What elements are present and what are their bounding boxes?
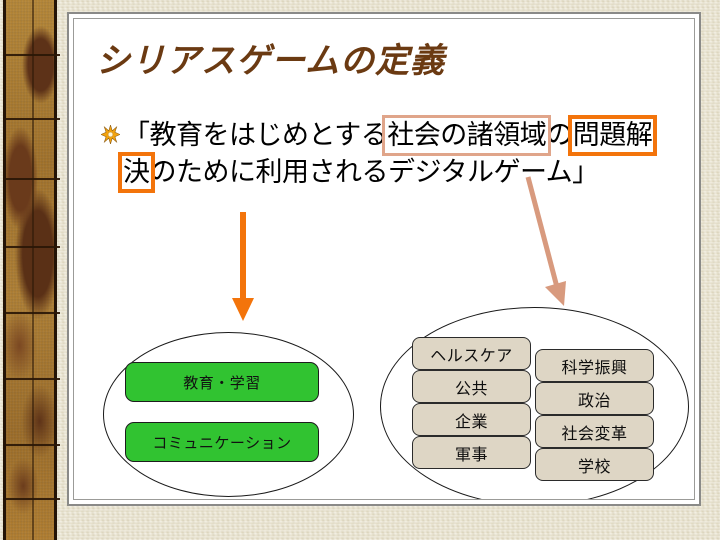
slide-panel-inner-frame: シリアスゲームの定義 「教育をはじめとする社会の諸領域の問題解決のために利用され… xyxy=(73,18,695,500)
beige-box-military[interactable]: 軍事 xyxy=(412,436,531,469)
slide-panel-content: シリアスゲームの定義 「教育をはじめとする社会の諸領域の問題解決のために利用され… xyxy=(74,19,694,499)
highlight-social-domains: 社会の諸領域 xyxy=(387,120,546,151)
body-segment-plain-2: の xyxy=(546,120,573,151)
decorative-left-border-strip xyxy=(3,0,57,540)
page-title: シリアスゲームの定義 xyxy=(96,41,445,81)
body-segment-plain-3: のために利用されるデジタルゲーム」 xyxy=(150,157,599,188)
beige-box-healthcare[interactable]: ヘルスケア xyxy=(412,337,531,370)
star-burst-icon xyxy=(101,125,120,144)
green-box-education[interactable]: 教育・学習 xyxy=(125,362,319,402)
left-group-ellipse xyxy=(103,332,354,497)
orange-down-arrow xyxy=(232,212,254,321)
slide-canvas: シリアスゲームの定義 「教育をはじめとする社会の諸領域の問題解決のために利用され… xyxy=(0,0,720,540)
beige-box-politics[interactable]: 政治 xyxy=(535,382,654,415)
beige-box-enterprise[interactable]: 企業 xyxy=(412,403,531,436)
body-segment-plain-1: 「教育をはじめとする xyxy=(123,120,387,151)
beige-box-public[interactable]: 公共 xyxy=(412,370,531,403)
slide-content-panel: シリアスゲームの定義 「教育をはじめとする社会の諸領域の問題解決のために利用され… xyxy=(67,12,701,506)
beige-box-school[interactable]: 学校 xyxy=(535,448,654,481)
salmon-diagonal-arrow xyxy=(528,177,566,306)
body-paragraph: 「教育をはじめとする社会の諸領域の問題解決のために利用されるデジタルゲーム」 xyxy=(123,117,663,191)
beige-box-social-change[interactable]: 社会変革 xyxy=(535,415,654,448)
beige-box-science-promotion[interactable]: 科学振興 xyxy=(535,349,654,382)
green-box-communication[interactable]: コミュニケーション xyxy=(125,422,319,462)
